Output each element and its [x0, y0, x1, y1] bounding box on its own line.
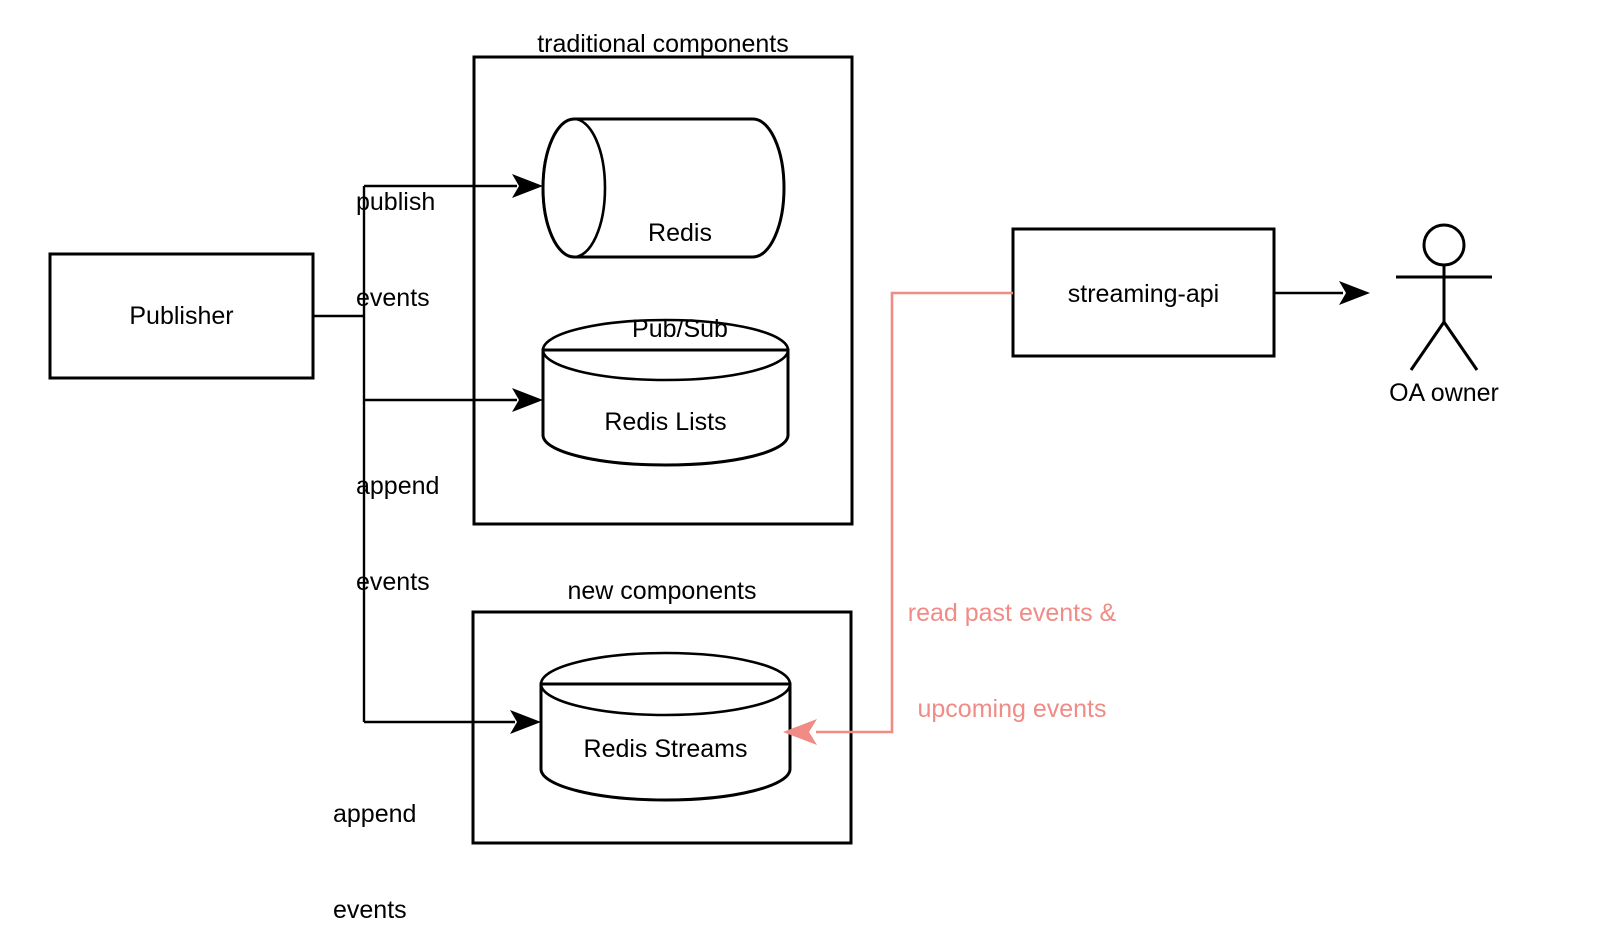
diagram-svg — [0, 0, 1600, 925]
node-redis-lists-label: Redis Lists — [543, 406, 788, 438]
edge-streaming-api-to-oa-owner[interactable] — [1274, 281, 1370, 305]
edge-publish-events-label: publish events — [356, 122, 506, 378]
edge-append-events-streams-label-line1: append — [333, 798, 483, 830]
edge-append-events-lists-label-line1: append — [356, 470, 506, 502]
diagram-canvas: traditional components new components Pu… — [0, 0, 1600, 925]
group-traditional-components-label: traditional components — [474, 28, 852, 60]
edge-append-events-lists-label-line2: events — [356, 566, 506, 598]
node-redis-pubsub-label: Redis Pub/Sub — [590, 153, 770, 409]
edge-append-events-streams[interactable] — [364, 710, 541, 734]
group-new-components-label: new components — [473, 575, 851, 607]
node-publisher-label: Publisher — [50, 300, 313, 332]
edge-read-past-events-label: read past events & upcoming events — [901, 533, 1123, 789]
edge-publish-events-label-line2: events — [356, 282, 506, 314]
edge-read-past-events-label-line1: read past events & — [901, 597, 1123, 629]
node-streaming-api-label: streaming-api — [1013, 278, 1274, 310]
edge-publish-events-label-line1: publish — [356, 186, 506, 218]
node-oa-owner-figure[interactable] — [1396, 225, 1492, 370]
edge-append-events-lists-label: append events — [356, 406, 506, 662]
node-redis-streams-label: Redis Streams — [541, 733, 790, 765]
edge-append-events-streams-label-line2: events — [333, 894, 483, 925]
edge-append-events-streams-label: append events — [333, 734, 483, 925]
node-oa-owner-label: OA owner — [1354, 377, 1534, 409]
node-redis-pubsub-label-line1: Redis — [590, 217, 770, 249]
node-redis-pubsub-label-line2: Pub/Sub — [590, 313, 770, 345]
edge-read-past-events-label-line2: upcoming events — [901, 693, 1123, 725]
